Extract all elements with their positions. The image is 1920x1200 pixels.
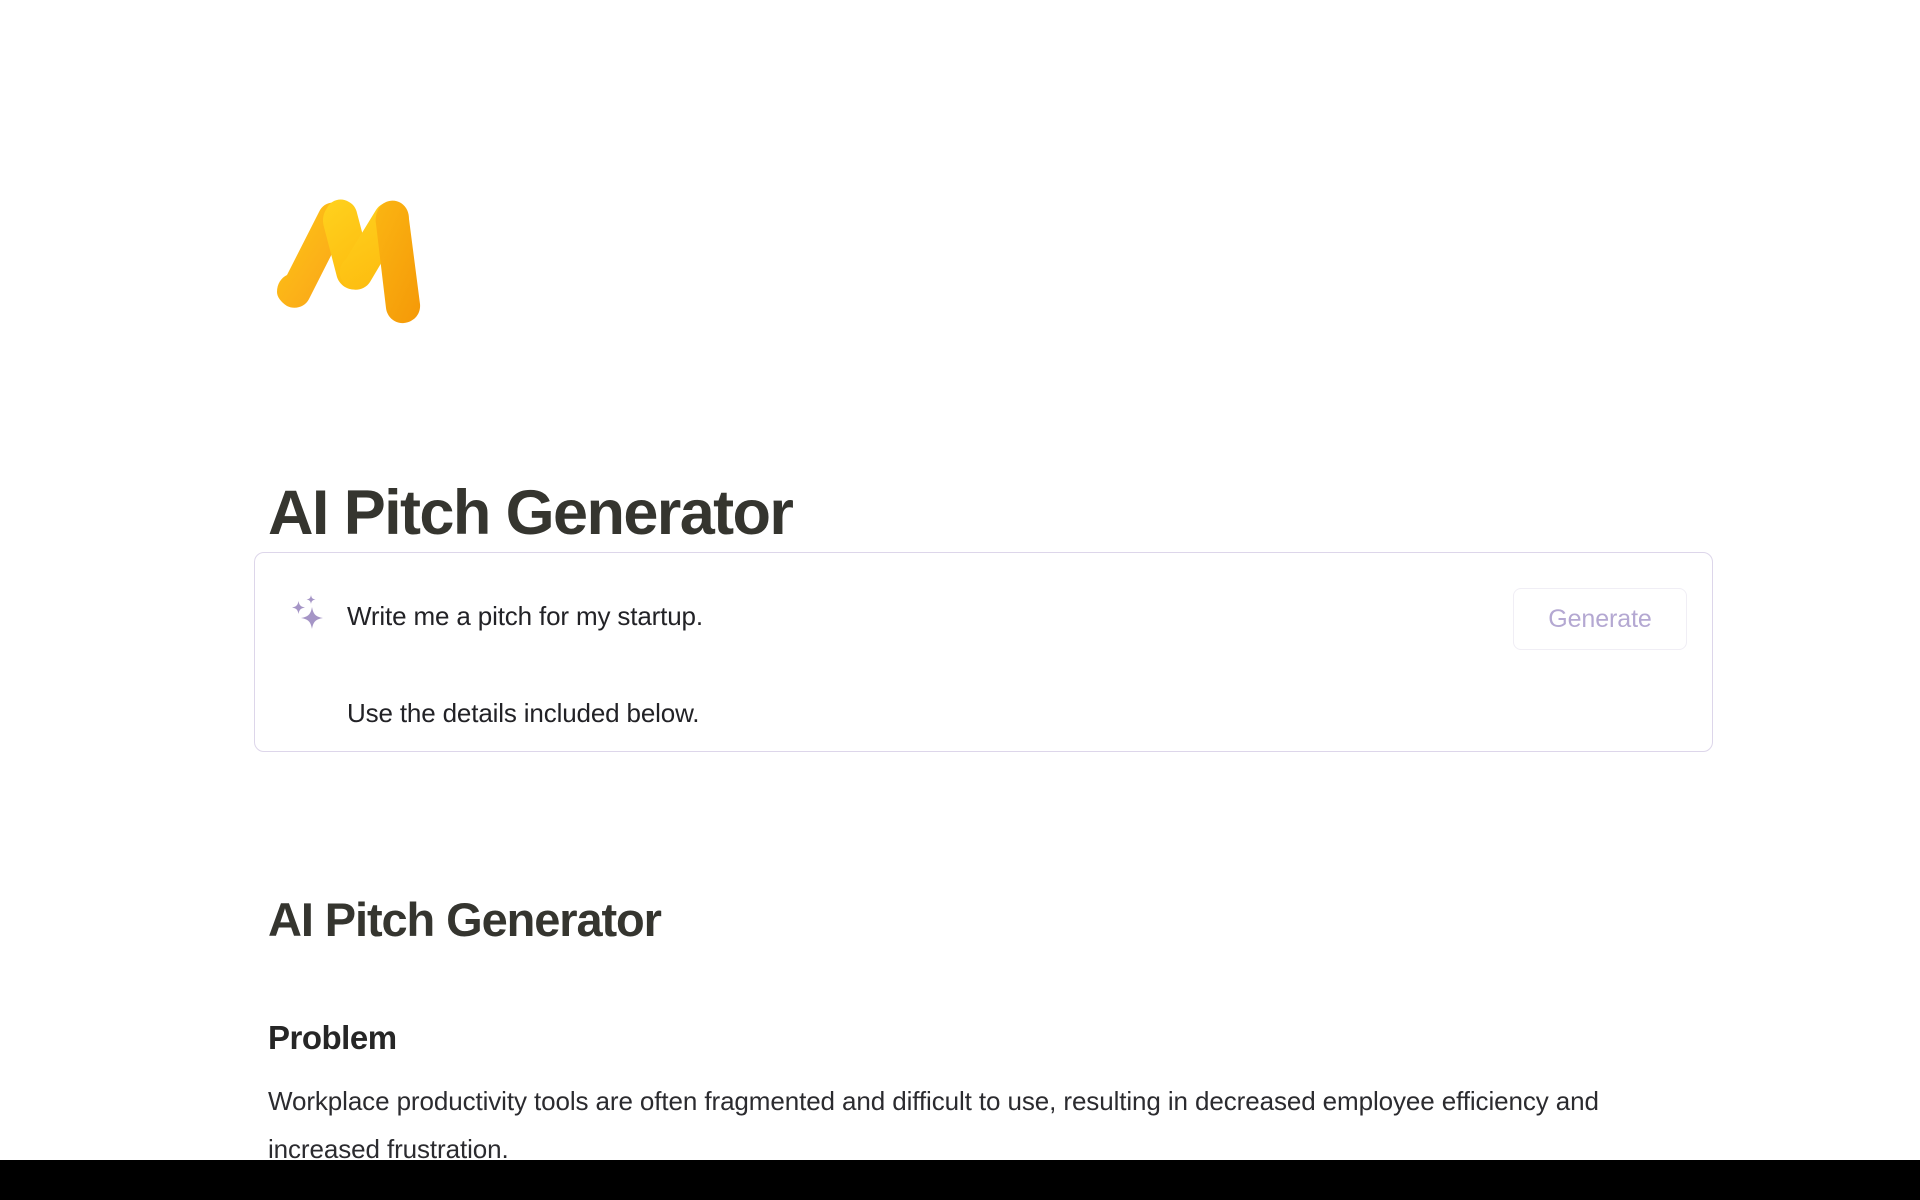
mem-mountain-logo-icon: [275, 196, 425, 324]
prompt-content: Write me a pitch for my startup. Use the…: [255, 553, 1712, 751]
page-title: AI Pitch Generator: [268, 478, 792, 549]
bottom-letterbox-bar: [0, 1160, 1920, 1200]
section-body-problem: Workplace productivity tools are often f…: [268, 1077, 1658, 1160]
prompt-line-1[interactable]: Write me a pitch for my startup.: [347, 600, 703, 633]
section-heading-problem: Problem: [268, 1018, 397, 1058]
app-screen: AI Pitch Generator Write me a pitch for …: [0, 0, 1920, 1160]
generate-button[interactable]: Generate: [1513, 588, 1687, 650]
sparkle-icon: [286, 592, 330, 636]
document-title: AI Pitch Generator: [268, 893, 661, 947]
prompt-card[interactable]: Write me a pitch for my startup. Use the…: [254, 552, 1713, 752]
prompt-line-2[interactable]: Use the details included below.: [347, 697, 699, 730]
